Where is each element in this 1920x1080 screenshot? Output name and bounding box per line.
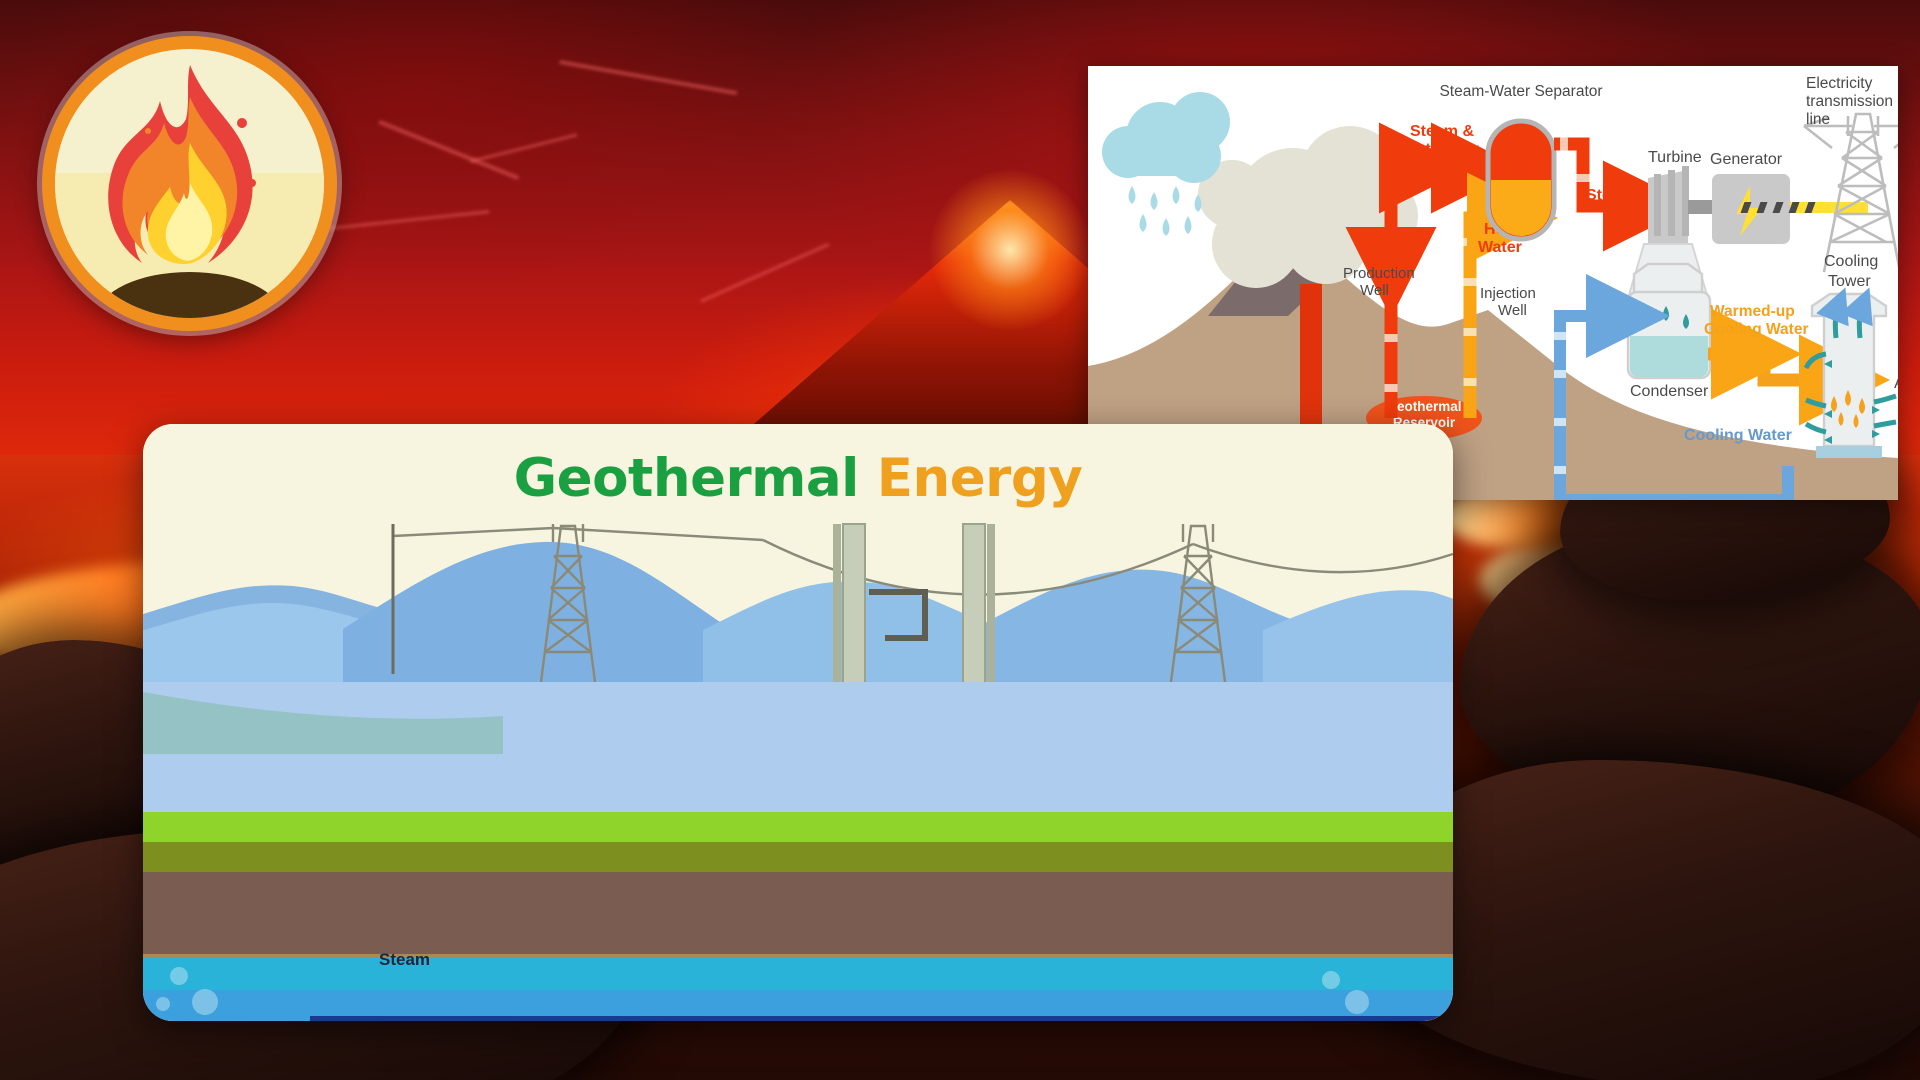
electricity-line-label-3: line xyxy=(1806,111,1830,128)
lesson-card: Geothermal Energy Steam “Geo” means “ear… xyxy=(143,424,1453,1021)
condenser-label: Condenser xyxy=(1630,383,1709,400)
injection-well-label-line2: Well xyxy=(1498,302,1527,319)
steam-hot-water-label-line2: Hot Water xyxy=(1404,141,1479,158)
production-well-label-line2: Well xyxy=(1360,282,1389,299)
cooling-water-label: Cooling Water xyxy=(1684,427,1792,444)
cooling-tower-label-1: Cooling xyxy=(1824,253,1878,270)
flame-icon xyxy=(90,57,290,292)
layer-aquifer xyxy=(143,958,1453,994)
layer-grass xyxy=(143,812,1453,846)
steam-label-pipe: Steam xyxy=(1586,187,1634,204)
air-label: Air xyxy=(1894,375,1898,392)
lesson-text-panel: “Geo” means “earth,” and “thermal” means… xyxy=(310,1016,1442,1021)
title-word-energy: Energy xyxy=(877,448,1083,509)
geothermal-reservoir-label-line1: Geothermal xyxy=(1386,399,1461,414)
steam-water-separator-label: Steam-Water Separator xyxy=(1439,83,1602,100)
warmed-cooling-water-label-1: Warmed-up xyxy=(1710,303,1795,320)
production-well-label-line1: Production xyxy=(1343,265,1415,282)
electricity-line-label-2: transmission xyxy=(1806,93,1893,110)
title-word-geothermal: Geothermal xyxy=(514,448,859,509)
injection-well-label-line1: Injection xyxy=(1480,285,1536,302)
generator-label: Generator xyxy=(1710,151,1783,168)
turbine-label: Turbine xyxy=(1648,149,1702,166)
steam-annotation-label: Steam xyxy=(379,950,430,970)
electricity-line-label-1: Electricity xyxy=(1806,75,1873,92)
flame-badge xyxy=(42,36,337,331)
cooling-tower-label-2: Tower xyxy=(1828,273,1871,290)
layer-bedrock xyxy=(143,872,1453,958)
condenser xyxy=(1628,264,1710,378)
volcano-eruption-glow xyxy=(930,170,1090,330)
warmed-cooling-water-label-2: Cooling Water xyxy=(1704,321,1808,338)
lesson-illustration xyxy=(143,424,1453,1021)
hot-water-label-line2: Water xyxy=(1478,239,1522,256)
steam-hot-water-label-line1: Steam & xyxy=(1410,123,1474,140)
page-title: Geothermal Energy xyxy=(143,448,1453,509)
layer-soil-top xyxy=(143,842,1453,876)
